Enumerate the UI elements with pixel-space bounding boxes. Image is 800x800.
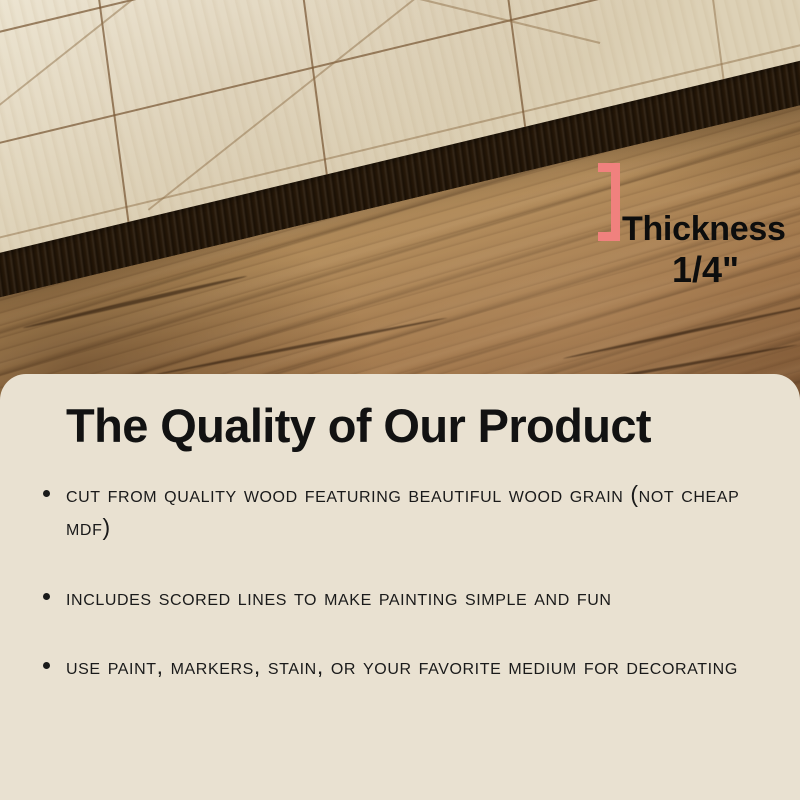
thickness-value: 1/4" (672, 252, 739, 288)
bullet-dot-icon (43, 662, 50, 669)
bullet-dot-icon (43, 593, 50, 600)
bracket-arm-bottom (598, 232, 620, 241)
bracket-bar (611, 163, 620, 241)
product-photo: Thickness 1/4" (0, 0, 800, 400)
bullet-dot-icon (43, 490, 50, 497)
list-item: Cut from quality wood featuring beautifu… (38, 478, 758, 545)
product-infographic: Thickness 1/4" The Quality of Our Produc… (0, 0, 800, 800)
list-item: Use paint, markers, stain, or your favor… (38, 650, 758, 683)
thickness-label: Thickness (622, 212, 786, 246)
wood-plaque (0, 0, 800, 370)
list-item-label: Cut from quality wood featuring beautifu… (66, 481, 739, 540)
list-item: Includes scored lines to make painting s… (38, 581, 758, 614)
thickness-bracket-icon (598, 163, 620, 241)
list-item-label: Use paint, markers, stain, or your favor… (66, 653, 738, 679)
page-title: The Quality of Our Product (66, 402, 651, 449)
list-item-label: Includes scored lines to make painting s… (66, 584, 612, 610)
quality-bullet-list: Cut from quality wood featuring beautifu… (38, 478, 758, 683)
